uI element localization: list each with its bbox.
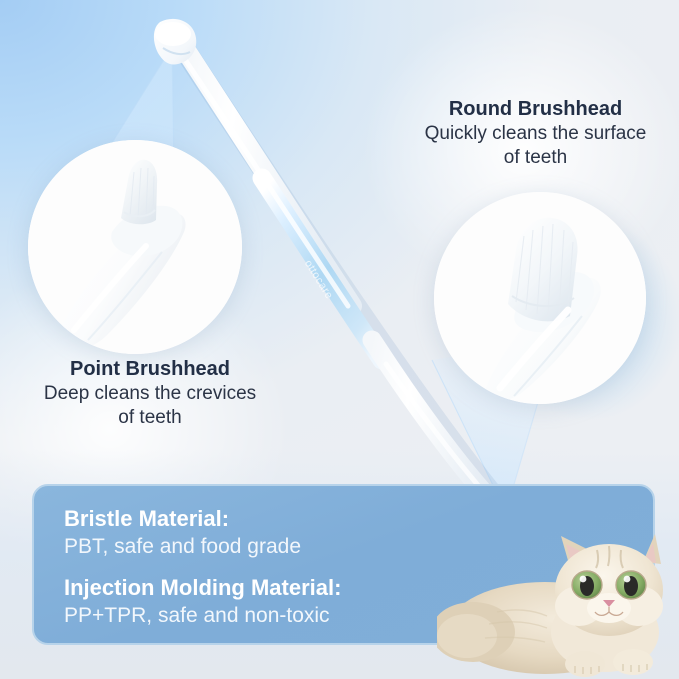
spec-item-injection: Injection Molding Material: PP+TPR, safe… <box>64 573 494 630</box>
callout-round-brushhead: Round Brushhead Quickly cleans the surfa… <box>392 98 679 170</box>
point-brushhead-zoom <box>28 140 242 354</box>
callout-line-point-2: of teeth <box>0 406 300 430</box>
cat-image <box>437 520 679 679</box>
round-brushhead-zoom <box>434 192 646 404</box>
callout-title-point: Point Brushhead <box>0 358 300 382</box>
callout-title-round: Round Brushhead <box>392 98 679 122</box>
product-infographic: ottocare <box>0 0 679 679</box>
spec-label-bristle: Bristle Material: <box>64 504 494 533</box>
spec-item-bristle: Bristle Material: PBT, safe and food gra… <box>64 504 494 561</box>
callout-line-round-1: Quickly cleans the surface <box>392 122 679 146</box>
callout-line-round-2: of teeth <box>392 146 679 170</box>
spec-label-injection: Injection Molding Material: <box>64 573 494 602</box>
callout-point-brushhead: Point Brushhead Deep cleans the crevices… <box>0 358 300 430</box>
spec-value-injection: PP+TPR, safe and non-toxic <box>64 602 494 630</box>
material-spec-list: Bristle Material: PBT, safe and food gra… <box>64 504 494 630</box>
spec-value-bristle: PBT, safe and food grade <box>64 533 494 561</box>
callout-line-point-1: Deep cleans the crevices <box>0 382 300 406</box>
